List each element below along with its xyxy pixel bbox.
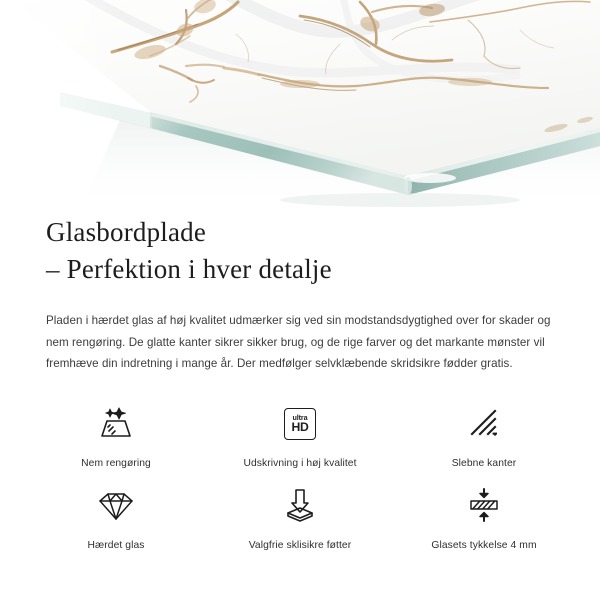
- feature-item-high-quality-print: ultra HD Udskrivning i høj kvalitet: [208, 403, 392, 485]
- feature-label: Valgfrie sklisikre føtter: [249, 539, 352, 552]
- feature-item-easy-cleaning: Nem rengøring: [24, 403, 208, 485]
- ultra-hd-badge-icon: ultra HD: [284, 403, 316, 445]
- ultra-hd-bottom-text: HD: [291, 421, 308, 433]
- feature-item-anti-slip-feet: Valgfrie sklisikre føtter: [208, 485, 392, 567]
- page-title: Glasbordplade – Perfektion i hver detalj…: [0, 210, 600, 288]
- product-description-section: Glasbordplade – Perfektion i hver detalj…: [0, 210, 600, 567]
- feature-item-polished-edges: Slebne kanter: [392, 403, 576, 485]
- title-line-1: Glasbordplade: [46, 210, 554, 251]
- sparkle-plate-icon: [95, 403, 137, 445]
- description-paragraph: Pladen i hærdet glas af høj kvalitet udm…: [46, 310, 551, 375]
- feature-grid: Nem rengøring ultra HD Udskrivning i høj…: [0, 403, 600, 567]
- arrow-onto-pad-icon: [280, 485, 320, 527]
- feature-item-glass-thickness: Glasets tykkelse 4 mm: [392, 485, 576, 567]
- feature-label: Glasets tykkelse 4 mm: [431, 539, 536, 552]
- feature-label: Udskrivning i høj kvalitet: [243, 457, 356, 470]
- glass-plate-illustration: [0, 0, 600, 210]
- thickness-arrows-icon: [463, 485, 505, 527]
- title-line-2: – Perfektion i hver detalje: [46, 251, 554, 288]
- product-hero-image: [0, 0, 600, 210]
- feature-label: Hærdet glas: [88, 539, 145, 552]
- diamond-icon: [96, 485, 136, 527]
- feature-label: Nem rengøring: [81, 457, 151, 470]
- feature-label: Slebne kanter: [452, 457, 517, 470]
- feature-item-tempered-glass: Hærdet glas: [24, 485, 208, 567]
- beveled-edge-hatch-icon: [467, 403, 501, 445]
